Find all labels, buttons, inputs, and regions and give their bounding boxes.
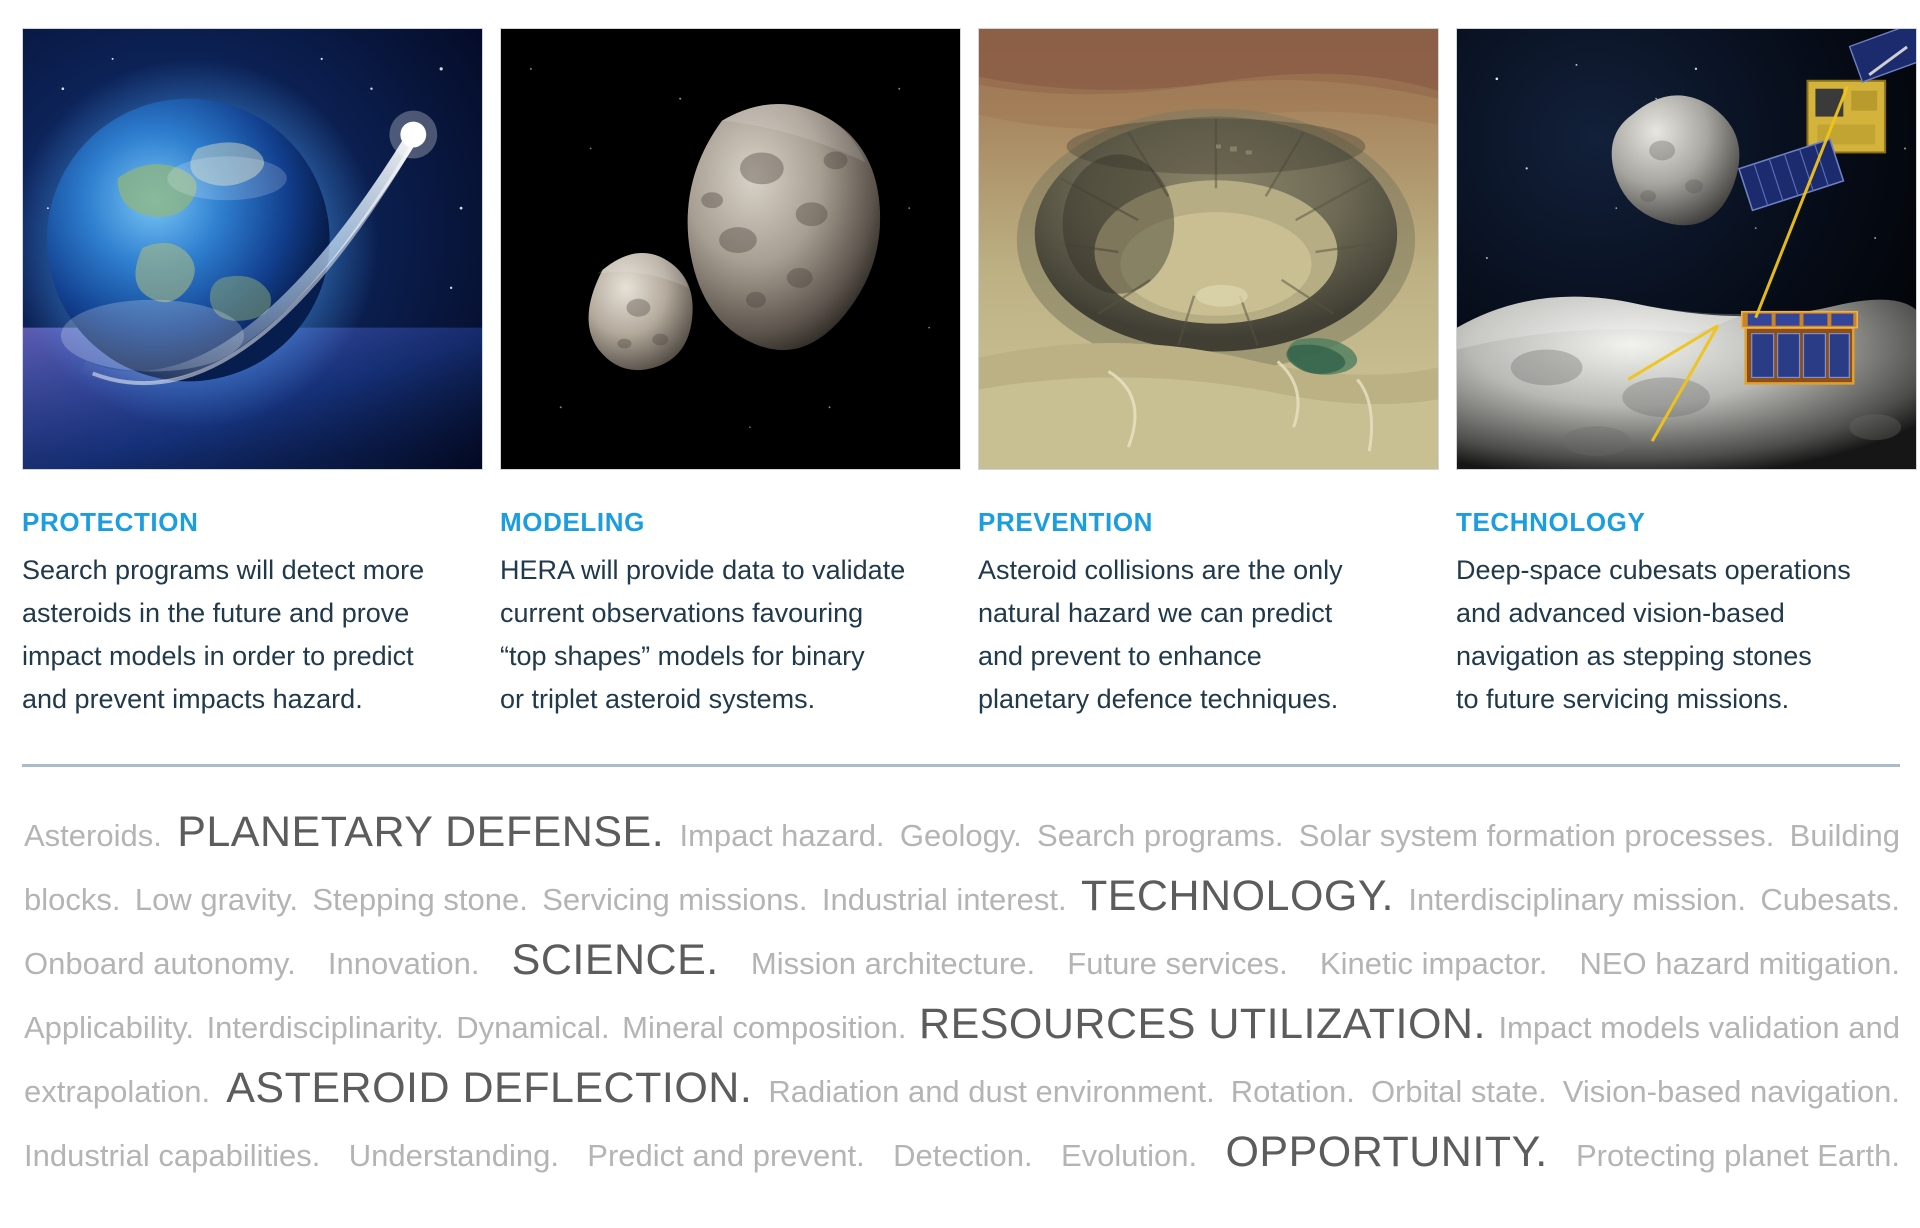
keyword: Impact hazard.	[680, 804, 885, 868]
card-body-line: HERA will provide data to validate	[500, 549, 961, 592]
keyword: extrapolation.	[24, 1060, 210, 1124]
keyword: Radiation and dust environment.	[768, 1060, 1214, 1124]
keyword: Servicing missions.	[542, 868, 807, 932]
keyword: Search programs.	[1037, 804, 1283, 868]
keyword: Innovation.	[328, 932, 480, 996]
card-body-line: or triplet asteroid systems.	[500, 678, 961, 721]
keyword-emphasis: PLANETARY DEFENSE.	[177, 800, 664, 864]
section-divider	[22, 764, 1900, 767]
card-title: PROTECTION	[22, 507, 483, 538]
card-body-line: “top shapes” models for binary	[500, 635, 961, 678]
keyword: Solar system formation processes.	[1299, 804, 1775, 868]
keyword: Vision-based navigation.	[1563, 1060, 1900, 1124]
card-body-line: and advanced vision-based	[1456, 592, 1917, 635]
keyword-cloud-line: blocks.Low gravity.Stepping stone.Servic…	[24, 864, 1900, 928]
keyword-emphasis: TECHNOLOGY.	[1081, 864, 1394, 928]
keyword: Mineral composition.	[622, 996, 906, 1060]
keyword: Impact models validation and	[1498, 996, 1900, 1060]
card-body: Deep-space cubesats operations and advan…	[1456, 549, 1917, 721]
meteor-crater-photo	[978, 28, 1439, 470]
keyword: Low gravity.	[135, 868, 298, 932]
keyword: Rotation.	[1231, 1060, 1355, 1124]
keyword: Orbital state.	[1371, 1060, 1547, 1124]
keyword: Dynamical.	[456, 996, 609, 1060]
keyword: Building	[1790, 804, 1900, 868]
card-body-line: planetary defence techniques.	[978, 678, 1439, 721]
card-body-line: to future servicing missions.	[1456, 678, 1917, 721]
keyword-cloud-line: Industrial capabilities.Understanding.Pr…	[24, 1120, 1900, 1184]
keyword: Detection.	[893, 1124, 1033, 1188]
keyword: Predict and prevent.	[587, 1124, 864, 1188]
card-body: HERA will provide data to validate curre…	[500, 549, 961, 721]
keyword-cloud-line: Applicability.Interdisciplinarity.Dynami…	[24, 992, 1900, 1056]
keyword: Asteroids.	[24, 804, 162, 868]
cubesat-spacecraft-photo	[1456, 28, 1917, 470]
keyword: Onboard autonomy.	[24, 932, 296, 996]
binary-asteroid-photo	[500, 28, 961, 470]
earth-with-comet-photo	[22, 28, 483, 470]
keyword: Cubesats.	[1760, 868, 1900, 932]
keyword: Understanding.	[349, 1124, 559, 1188]
card-body-line: natural hazard we can predict	[978, 592, 1439, 635]
card-body: Asteroid collisions are the only natural…	[978, 549, 1439, 721]
card-body-line: current observations favouring	[500, 592, 961, 635]
keyword: blocks.	[24, 868, 120, 932]
keyword-cloud-line: Asteroids.PLANETARY DEFENSE.Impact hazar…	[24, 800, 1900, 864]
feature-card-technology[interactable]: TECHNOLOGY Deep-space cubesats operation…	[1456, 28, 1917, 721]
card-body-line: asteroids in the future and prove	[22, 592, 483, 635]
card-body-line: and prevent impacts hazard.	[22, 678, 483, 721]
feature-card-protection[interactable]: PROTECTION Search programs will detect m…	[22, 28, 483, 721]
keyword: Kinetic impactor.	[1320, 932, 1547, 996]
keyword: Geology.	[900, 804, 1022, 868]
card-body-line: Deep-space cubesats operations	[1456, 549, 1917, 592]
keyword-emphasis: RESOURCES UTILIZATION.	[919, 992, 1486, 1056]
feature-card-modeling[interactable]: MODELING HERA will provide data to valid…	[500, 28, 961, 721]
keyword: NEO hazard mitigation.	[1579, 932, 1899, 996]
keyword: Evolution.	[1061, 1124, 1197, 1188]
feature-card-row: PROTECTION Search programs will detect m…	[22, 28, 1900, 721]
keyword: Industrial interest.	[822, 868, 1067, 932]
card-title: TECHNOLOGY	[1456, 507, 1917, 538]
keyword-emphasis: ASTEROID DEFLECTION.	[226, 1056, 752, 1120]
card-body-line: navigation as stepping stones	[1456, 635, 1917, 678]
keyword: Interdisciplinarity.	[207, 996, 444, 1060]
keyword-cloud-line: Onboard autonomy.Innovation.SCIENCE.Miss…	[24, 928, 1900, 992]
card-title: MODELING	[500, 507, 961, 538]
page-root: PROTECTION Search programs will detect m…	[0, 0, 1920, 1228]
card-title: PREVENTION	[978, 507, 1439, 538]
keyword-emphasis: SCIENCE.	[512, 928, 719, 992]
keyword: Protecting planet Earth.	[1576, 1124, 1900, 1188]
card-body-line: impact models in order to predict	[22, 635, 483, 678]
keyword: Interdisciplinary mission.	[1408, 868, 1746, 932]
keyword-emphasis: OPPORTUNITY.	[1225, 1120, 1547, 1184]
card-body-line: Asteroid collisions are the only	[978, 549, 1439, 592]
feature-card-prevention[interactable]: PREVENTION Asteroid collisions are the o…	[978, 28, 1439, 721]
keyword: Stepping stone.	[312, 868, 527, 932]
card-body-line: and prevent to enhance	[978, 635, 1439, 678]
card-body: Search programs will detect more asteroi…	[22, 549, 483, 721]
keyword: Future services.	[1067, 932, 1288, 996]
keyword-cloud-line: extrapolation.ASTEROID DEFLECTION.Radiat…	[24, 1056, 1900, 1120]
card-body-line: Search programs will detect more	[22, 549, 483, 592]
keyword-cloud: Asteroids.PLANETARY DEFENSE.Impact hazar…	[24, 800, 1900, 1184]
keyword: Applicability.	[24, 996, 194, 1060]
keyword: Industrial capabilities.	[24, 1124, 320, 1188]
keyword: Mission architecture.	[751, 932, 1035, 996]
